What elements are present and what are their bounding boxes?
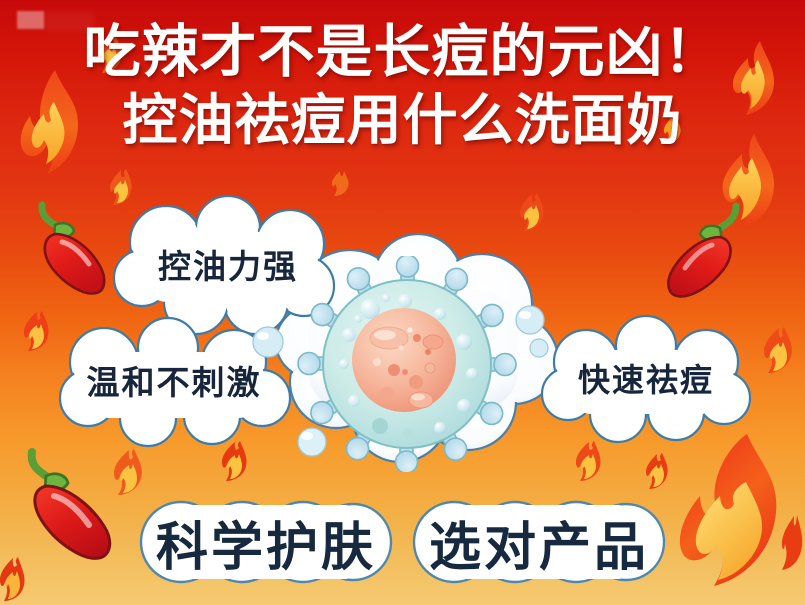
title-line-1: 吃辣才不是长痘的元凶！ — [0, 18, 805, 86]
flame-icon-small-10 — [332, 170, 350, 196]
floating-bubble-left — [250, 318, 290, 378]
poster-canvas: 吃辣才不是长痘的元凶！ 控油祛痘用什么洗面奶 — [0, 0, 805, 605]
flame-icon-small-7 — [576, 440, 602, 482]
poster-title: 吃辣才不是长痘的元凶！ 控油祛痘用什么洗面奶 — [0, 18, 805, 154]
flame-icon-small-9 — [646, 452, 670, 490]
footer-right-group[interactable]: 选对产品 — [412, 496, 667, 588]
chili-pepper-icon-left — [8, 196, 120, 306]
flame-icon-small-8 — [764, 326, 794, 374]
footer-slogan: 科学护肤 选对产品 — [0, 494, 805, 590]
bubble-fast-acne[interactable]: 快速祛痘 — [534, 318, 758, 438]
flame-icon-small-3 — [520, 192, 546, 232]
title-line-2: 控油祛痘用什么洗面奶 — [0, 86, 805, 154]
floating-bubble-bottom — [292, 420, 332, 464]
flame-icon-small-4 — [24, 310, 50, 352]
flame-icon-small-6 — [222, 440, 248, 482]
footer-left-group[interactable]: 科学护肤 — [139, 496, 394, 588]
chili-pepper-icon-right — [650, 196, 768, 308]
